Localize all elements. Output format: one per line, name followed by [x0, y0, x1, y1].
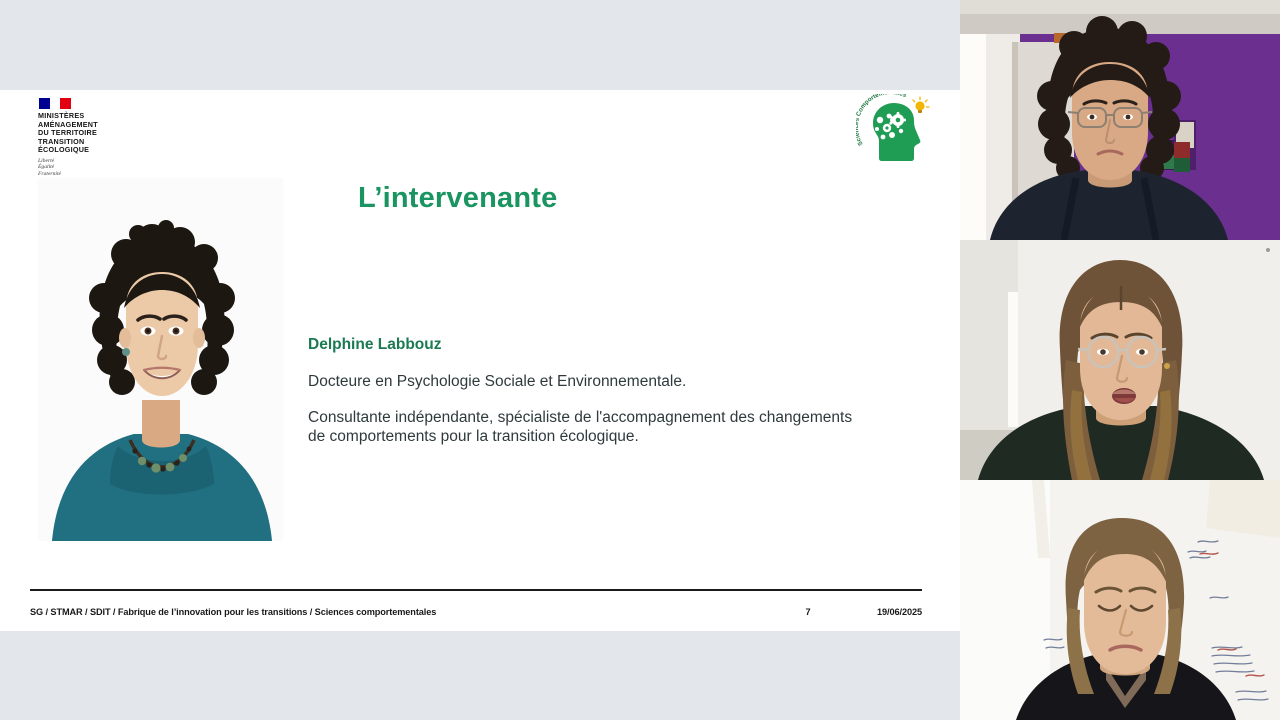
- footer-path: SG / STMAR / SDIT / Fabrique de l’innova…: [30, 607, 436, 617]
- speaker-description-line: Consultante indépendante, spécialiste de…: [308, 408, 868, 446]
- speaker-info: Delphine Labbouz Docteure en Psychologie…: [308, 336, 868, 446]
- participant-video-rail: [960, 0, 1280, 720]
- screen: MINISTÈRES AMÉNAGEMENT DU TERRITOIRE TRA…: [0, 0, 1280, 720]
- footer-date: 19/06/2025: [856, 607, 922, 617]
- footer-page-number: 7: [760, 607, 856, 617]
- participant-video-tile[interactable]: [960, 480, 1280, 720]
- page-title: L’intervenante: [358, 182, 557, 215]
- speaker-credential-line: Docteure en Psychologie Sociale et Envir…: [308, 372, 868, 391]
- footer-divider: [30, 589, 922, 591]
- speaker-portrait-photo: [38, 178, 283, 541]
- sciences-comportementales-logo-icon: Sciences Comportementales: [856, 94, 936, 166]
- slide-footer: SG / STMAR / SDIT / Fabrique de l’innova…: [30, 604, 922, 620]
- ministry-logo: MINISTÈRES AMÉNAGEMENT DU TERRITOIRE TRA…: [38, 98, 148, 177]
- participant-video-tile[interactable]: [960, 240, 1280, 480]
- screen-share-stage: MINISTÈRES AMÉNAGEMENT DU TERRITOIRE TRA…: [0, 0, 960, 720]
- ministry-logo-name: MINISTÈRES AMÉNAGEMENT DU TERRITOIRE TRA…: [38, 112, 148, 155]
- presentation-slide: MINISTÈRES AMÉNAGEMENT DU TERRITOIRE TRA…: [0, 90, 960, 631]
- french-flag-icon: [39, 98, 71, 109]
- speaker-name: Delphine Labbouz: [308, 336, 868, 354]
- participant-video-tile[interactable]: [960, 0, 1280, 240]
- ministry-logo-motto: Liberté Égalité Fraternité: [38, 158, 148, 177]
